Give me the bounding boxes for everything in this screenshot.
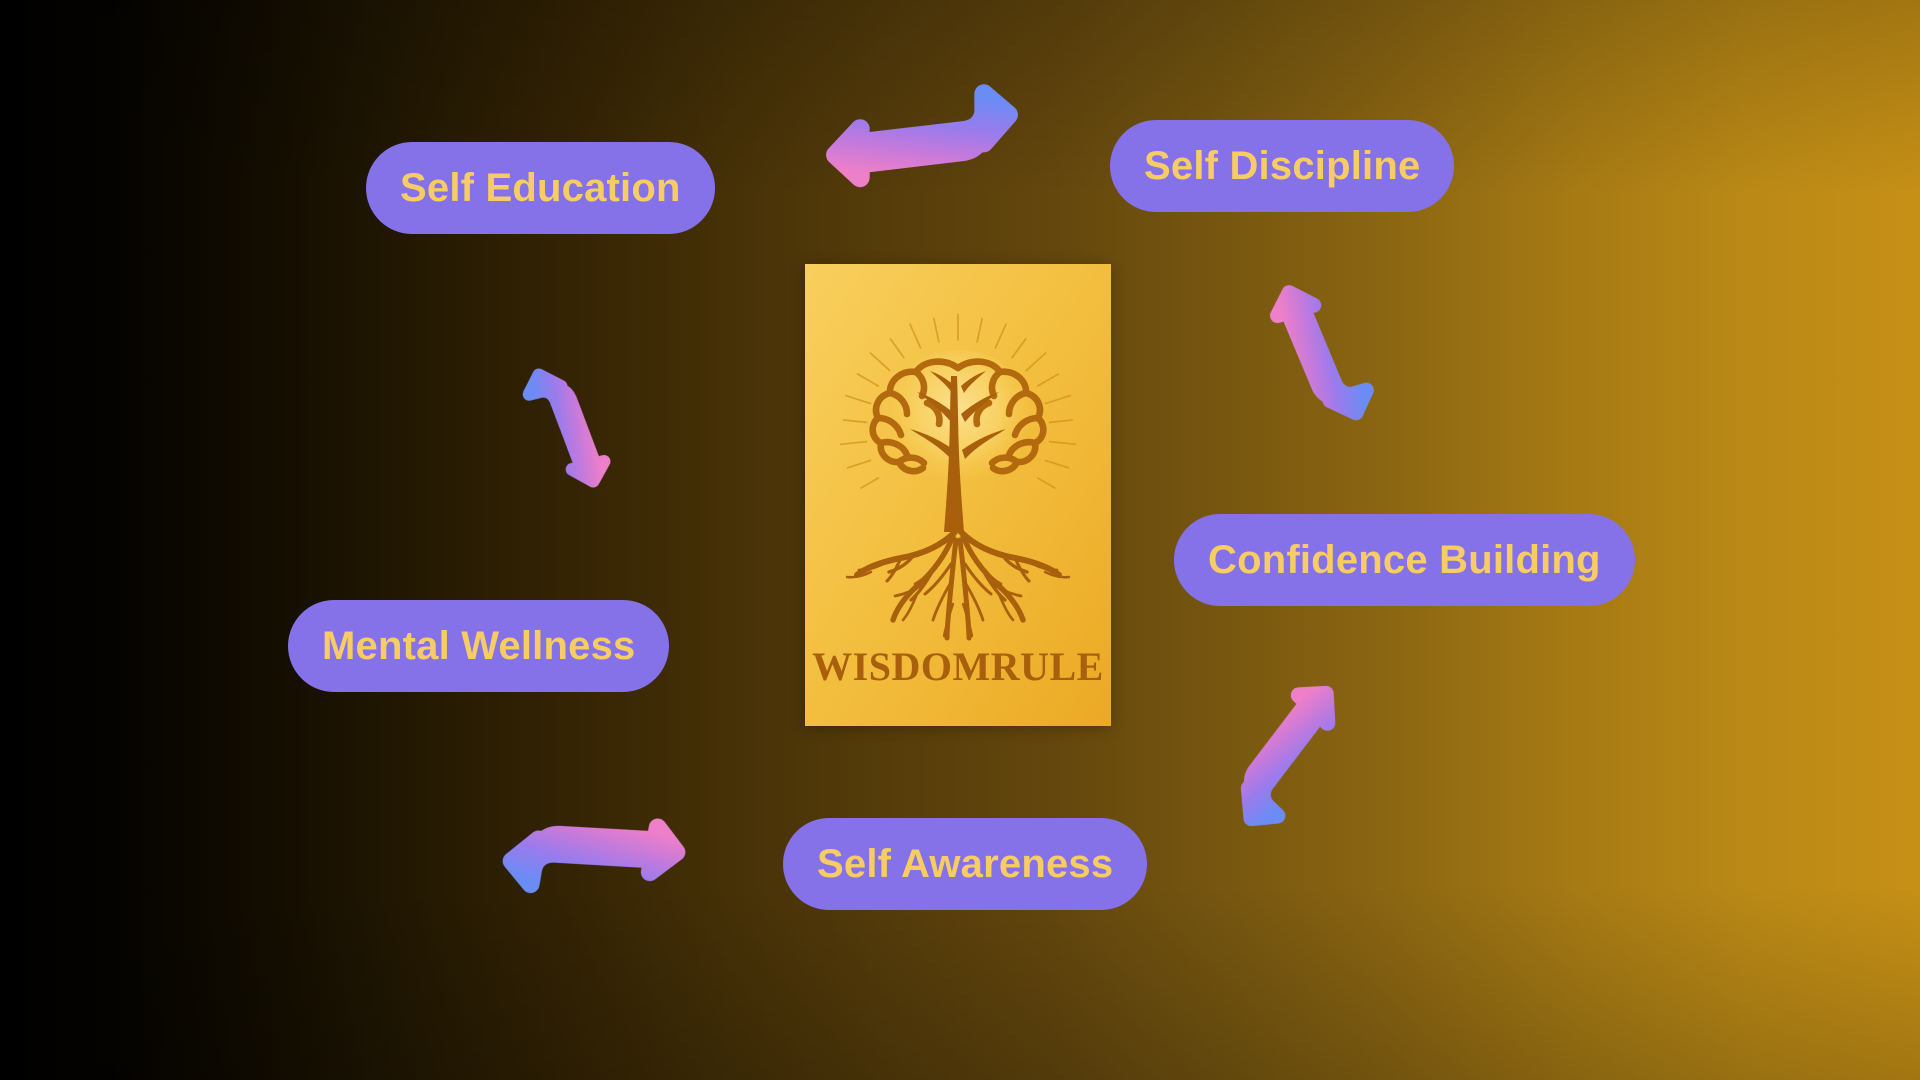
connector-arrow-left xyxy=(440,323,701,530)
node-pill-confidence-building[interactable]: Confidence Building xyxy=(1174,514,1635,606)
node-label: Self Awareness xyxy=(817,844,1113,884)
node-pill-self-education[interactable]: Self Education xyxy=(366,142,715,234)
connector-arrow-right-lower xyxy=(1145,613,1424,892)
infographic-canvas: WISDOMRULE Self Education xyxy=(0,0,1920,1080)
node-label: Confidence Building xyxy=(1208,540,1601,580)
brand-wordmark: WISDOMRULE xyxy=(812,644,1104,689)
connector-arrow-right-upper xyxy=(1187,237,1448,471)
node-label: Self Education xyxy=(400,168,681,208)
connector-arrow-bottom xyxy=(472,739,718,964)
node-pill-mental-wellness[interactable]: Mental Wellness xyxy=(288,600,669,692)
node-label: Mental Wellness xyxy=(322,626,635,666)
wisdomrule-logo-card: WISDOMRULE xyxy=(805,264,1111,726)
connector-arrow-top xyxy=(806,55,1038,227)
node-pill-self-awareness[interactable]: Self Awareness xyxy=(783,818,1147,910)
node-pill-self-discipline[interactable]: Self Discipline xyxy=(1110,120,1454,212)
node-label: Self Discipline xyxy=(1144,146,1420,186)
